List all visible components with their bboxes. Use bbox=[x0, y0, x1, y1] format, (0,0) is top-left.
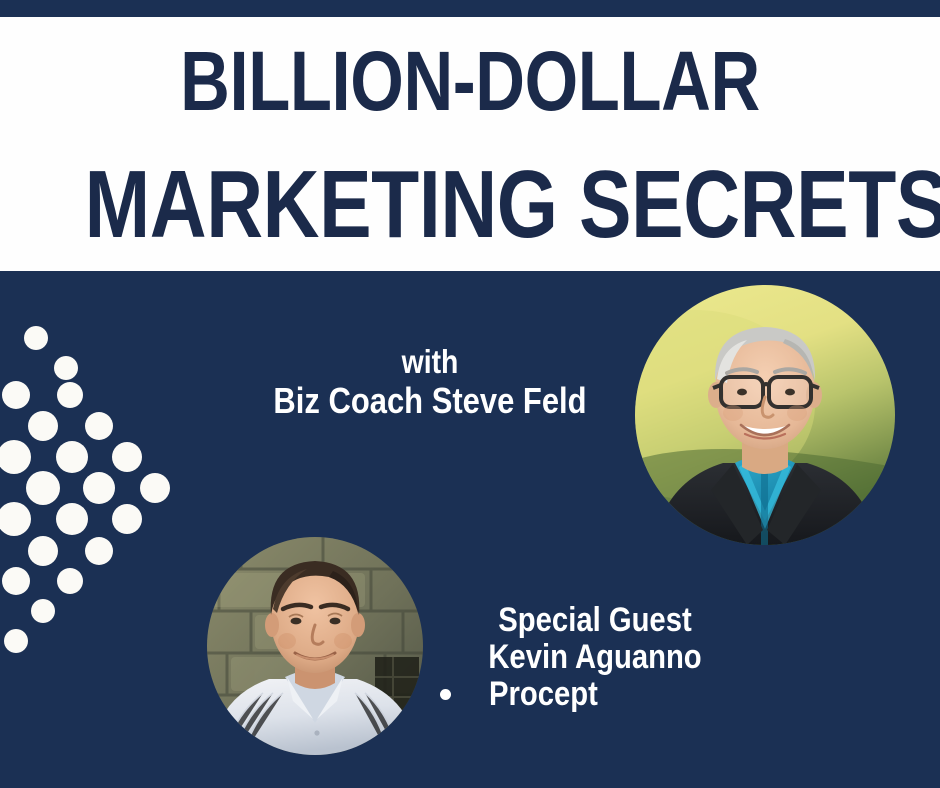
decor-dot bbox=[0, 440, 31, 474]
decor-dot bbox=[57, 382, 83, 408]
decor-dot bbox=[57, 568, 83, 594]
guest-name: Kevin Aguanno bbox=[453, 639, 737, 676]
decor-dot bbox=[54, 356, 78, 380]
decor-dot bbox=[28, 536, 58, 566]
decor-dot bbox=[0, 502, 31, 536]
decor-dot bbox=[112, 442, 142, 472]
decor-dot bbox=[56, 503, 88, 535]
decor-dot bbox=[85, 537, 113, 565]
guest-company: Procept bbox=[489, 676, 598, 713]
guest-label: Special Guest bbox=[453, 602, 737, 639]
host-text-block: with Biz Coach Steve Feld bbox=[240, 345, 620, 420]
bullet-point-icon bbox=[440, 689, 451, 700]
host-with-label: with bbox=[267, 345, 594, 379]
decor-dot bbox=[2, 567, 30, 595]
webinar-promo-poster: BILLION-DOLLAR MARKETING SECRETS bbox=[0, 0, 940, 788]
decor-dot bbox=[28, 411, 58, 441]
decor-dot bbox=[24, 326, 48, 350]
decor-dot bbox=[83, 472, 115, 504]
decor-dot bbox=[2, 381, 30, 409]
decor-dot bbox=[4, 629, 28, 653]
host-name: Biz Coach Steve Feld bbox=[267, 382, 594, 419]
decor-dot bbox=[85, 412, 113, 440]
decor-dot bbox=[112, 504, 142, 534]
decor-dot bbox=[140, 473, 170, 503]
guest-portrait-kevin-aguanno bbox=[207, 537, 423, 755]
guest-text-block: Special Guest Kevin Aguanno Procept bbox=[430, 602, 760, 713]
poster-body: with Biz Coach Steve Feld bbox=[0, 271, 940, 788]
decor-dot bbox=[31, 599, 55, 623]
poster-title-line-2: MARKETING SECRETS bbox=[85, 157, 856, 253]
poster-title-line-1: BILLION-DOLLAR bbox=[85, 39, 856, 123]
decor-dot bbox=[26, 471, 60, 505]
host-portrait-steve-feld bbox=[635, 285, 895, 545]
decor-dot bbox=[56, 441, 88, 473]
guest-company-row: Procept bbox=[430, 676, 760, 713]
title-header-band: BILLION-DOLLAR MARKETING SECRETS bbox=[0, 17, 940, 271]
top-navy-strip bbox=[0, 0, 940, 17]
dot-arrow-motif bbox=[0, 271, 200, 788]
